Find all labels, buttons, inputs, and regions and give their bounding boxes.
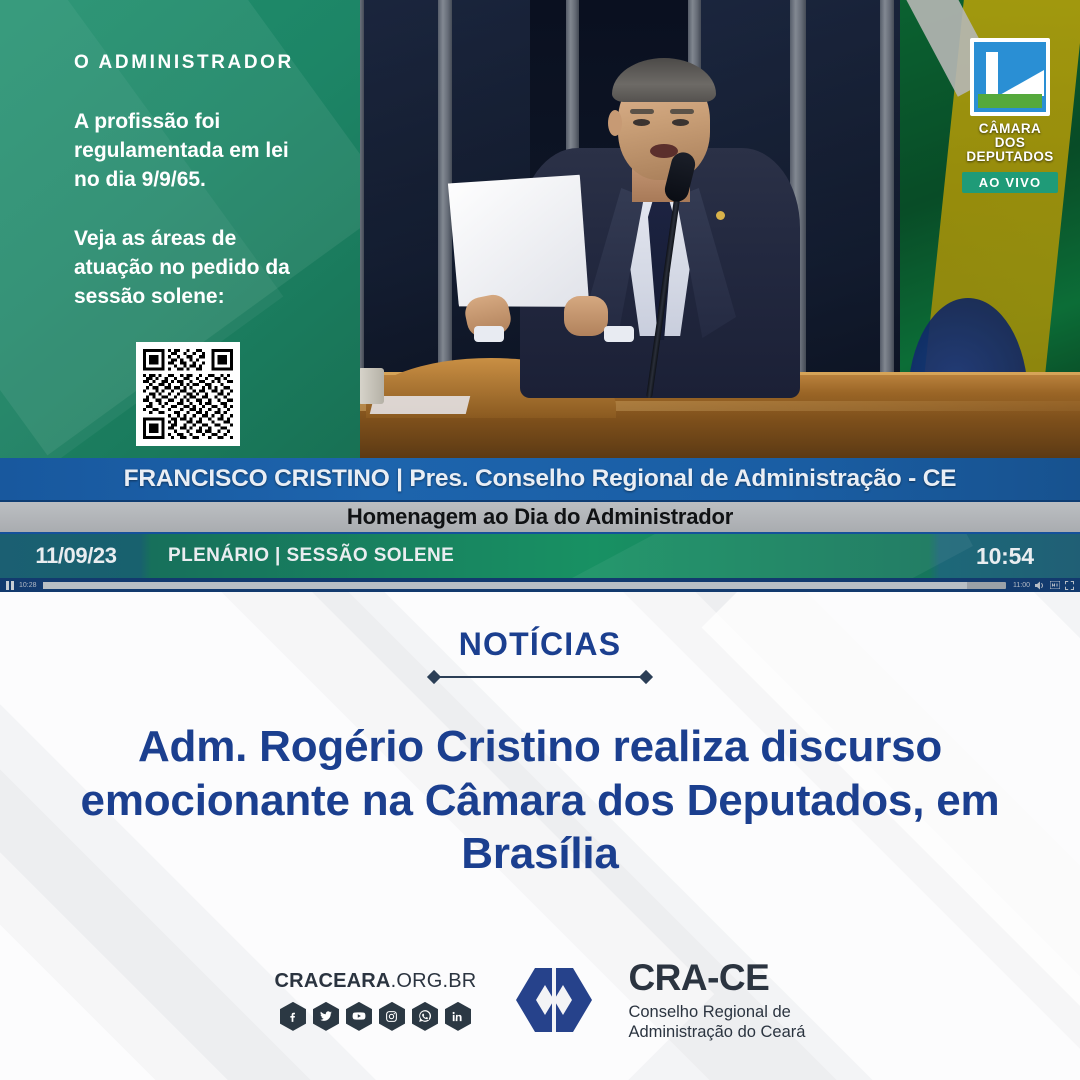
lapel-pin bbox=[716, 211, 725, 220]
website-url-light: .ORG.BR bbox=[391, 970, 477, 992]
live-badge: AO VIVO bbox=[962, 172, 1058, 193]
current-time-label: 10:28 bbox=[19, 582, 37, 589]
website-url[interactable]: CRACEARA.ORG.BR bbox=[275, 970, 477, 993]
channel-name: CÂMARA DOS DEPUTADOS bbox=[962, 122, 1058, 165]
lower-third-topic: Homenagem ao Dia do Administrador bbox=[0, 502, 1080, 534]
website-url-bold: CRACEARA bbox=[275, 970, 391, 992]
whatsapp-icon[interactable] bbox=[412, 1002, 438, 1031]
twitter-icon[interactable] bbox=[313, 1002, 339, 1031]
session-time: 10:54 bbox=[962, 543, 1080, 570]
camara-dos-deputados-branding: CÂMARA DOS DEPUTADOS AO VIVO bbox=[962, 38, 1058, 193]
cra-logo-text: CRA-CE Conselho Regional de Administraçã… bbox=[628, 959, 805, 1042]
instagram-icon[interactable] bbox=[379, 1002, 405, 1031]
news-headline: Adm. Rogério Cristino realiza discurso e… bbox=[80, 720, 1000, 881]
cra-ce-logo: CRA-CE Conselho Regional de Administraçã… bbox=[498, 959, 805, 1042]
player-controls[interactable]: 10:28 11:00 bbox=[0, 578, 1080, 592]
qr-code[interactable] bbox=[136, 342, 240, 446]
linkedin-icon[interactable] bbox=[445, 1002, 471, 1031]
divider-line bbox=[436, 676, 644, 678]
section-kicker: NOTÍCIAS bbox=[0, 626, 1080, 682]
slide-title: O ADMINISTRADOR bbox=[74, 52, 326, 74]
cra-logo-icon bbox=[498, 963, 610, 1037]
pause-icon[interactable] bbox=[6, 581, 15, 590]
brand-footer: CRACEARA.ORG.BR bbox=[0, 959, 1080, 1042]
brand-name: CRA-CE bbox=[628, 959, 805, 996]
lower-third-session: 11/09/23 PLENÁRIO | SESSÃO SOLENE 10:54 bbox=[0, 534, 1080, 578]
water-cup bbox=[358, 368, 384, 404]
plenary-camera-feed: CÂMARA DOS DEPUTADOS AO VIVO bbox=[0, 0, 1080, 458]
camara-logo-icon bbox=[970, 38, 1050, 116]
duration-label: 11:00 bbox=[1013, 582, 1030, 589]
video-player[interactable]: CÂMARA DOS DEPUTADOS AO VIVO bbox=[0, 0, 1080, 592]
hd-icon[interactable] bbox=[1050, 581, 1060, 589]
speaker-figure bbox=[520, 38, 800, 398]
kicker-label: NOTÍCIAS bbox=[0, 626, 1080, 663]
session-date: 11/09/23 bbox=[0, 543, 152, 569]
info-slide: O ADMINISTRADOR A profissão foi regulame… bbox=[0, 0, 360, 458]
social-links bbox=[275, 1002, 477, 1031]
lower-third-speaker: FRANCISCO CRISTINO | Pres. Conselho Regi… bbox=[0, 458, 1080, 502]
site-and-socials: CRACEARA.ORG.BR bbox=[275, 970, 477, 1031]
divider-diamond-right bbox=[639, 670, 653, 684]
youtube-icon[interactable] bbox=[346, 1002, 372, 1031]
kicker-divider bbox=[429, 672, 651, 682]
fullscreen-icon[interactable] bbox=[1065, 581, 1074, 590]
progress-bar[interactable] bbox=[43, 582, 1006, 589]
progress-bar-fill bbox=[43, 582, 968, 589]
slide-paragraph-1: A profissão foi regulamentada em lei no … bbox=[74, 108, 304, 195]
volume-icon[interactable] bbox=[1035, 581, 1045, 590]
session-location: PLENÁRIO | SESSÃO SOLENE bbox=[152, 545, 962, 567]
desk-paper bbox=[370, 396, 470, 414]
slide-paragraph-2: Veja as áreas de atuação no pedido da se… bbox=[74, 225, 304, 312]
facebook-icon[interactable] bbox=[280, 1002, 306, 1031]
brand-subtitle: Conselho Regional de Administração do Ce… bbox=[628, 1002, 805, 1042]
news-card: NOTÍCIAS Adm. Rogério Cristino realiza d… bbox=[0, 592, 1080, 1080]
